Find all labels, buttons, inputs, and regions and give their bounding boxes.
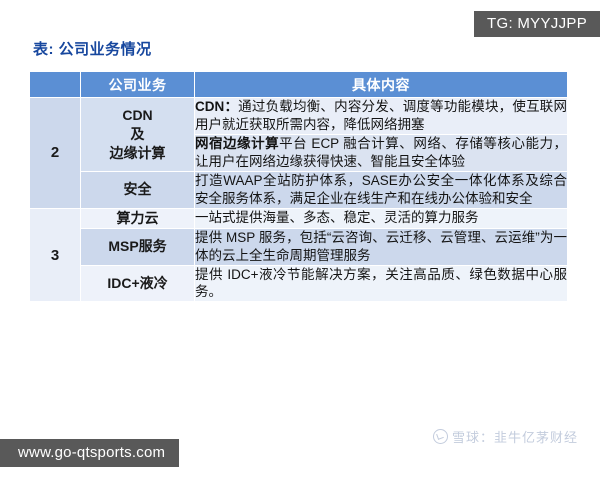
detail-text: 提供 IDC+液冷节能解决方案，关注高品质、绿色数据中心服务。 [195,267,567,300]
column-header-index [30,72,80,97]
detail-cell-idc-liquid-cooling: 提供 IDC+液冷节能解决方案，关注高品质、绿色数据中心服务。 [195,266,567,302]
table-row: 3 算力云 一站式提供海量、多态、稳定、灵活的算力服务 [30,209,567,228]
column-header-business: 公司业务 [81,72,194,97]
column-header-detail: 具体内容 [195,72,567,97]
site-url-bar: www.go-qtsports.com [0,439,179,467]
business-name-cdn-edge: CDN 及 边缘计算 [81,98,194,171]
detail-text: 打造WAAP全站防护体系，SASE办公安全一体化体系及综合安全服务体系，满足企业… [195,173,567,206]
business-name-line: 及 [81,125,194,144]
telegram-channel-badge: TG: MYYJJPP [474,11,600,37]
table-row: MSP服务 提供 MSP 服务，包括“云咨询、云迁移、云管理、云运维”为一体的云… [30,229,567,265]
watermark-text: 雪球：韭牛亿茅财经 [452,427,578,446]
table-row: 2 CDN 及 边缘计算 CDN：通过负载均衡、内容分发、调度等功能模块，使互联… [30,98,567,134]
table-row: IDC+液冷 提供 IDC+液冷节能解决方案，关注高品质、绿色数据中心服务。 [30,266,567,302]
source-watermark: 雪球：韭牛亿茅财经 [433,427,578,446]
business-name-compute-cloud: 算力云 [81,209,194,228]
figure-title: 表: 公司业务情况 [33,38,152,59]
detail-cell-compute-cloud: 一站式提供海量、多态、稳定、灵活的算力服务 [195,209,567,228]
business-name-security: 安全 [81,172,194,208]
business-name-line: 边缘计算 [81,144,194,163]
detail-cell-cdn: CDN：通过负载均衡、内容分发、调度等功能模块，使互联网用户就近获取所需内容，降… [195,98,567,134]
detail-cell-msp: 提供 MSP 服务，包括“云咨询、云迁移、云管理、云运维”为一体的云上全生命周期… [195,229,567,265]
detail-lead-label: 网宿边缘计算 [195,136,279,151]
xueqiu-logo-icon [433,429,448,444]
group-number-2: 2 [30,98,80,208]
business-table: 公司业务 具体内容 2 CDN 及 边缘计算 CDN：通过负载均衡、内容分发、调… [29,71,568,302]
detail-text: 提供 MSP 服务，包括“云咨询、云迁移、云管理、云运维”为一体的云上全生命周期… [195,230,567,263]
table-row: 安全 打造WAAP全站防护体系，SASE办公安全一体化体系及综合安全服务体系，满… [30,172,567,208]
detail-text: 通过负载均衡、内容分发、调度等功能模块，使互联网用户就近获取所需内容，降低网络拥… [195,99,567,132]
detail-cell-security: 打造WAAP全站防护体系，SASE办公安全一体化体系及综合安全服务体系，满足企业… [195,172,567,208]
detail-cell-ecp: 网宿边缘计算平台 ECP 融合计算、网络、存储等核心能力，让用户在网络边缘获得快… [195,135,567,171]
business-name-msp: MSP服务 [81,229,194,265]
business-table-container: 公司业务 具体内容 2 CDN 及 边缘计算 CDN：通过负载均衡、内容分发、调… [27,69,564,304]
business-name-idc-liquid-cooling: IDC+液冷 [81,266,194,302]
detail-lead-label: CDN： [195,99,238,114]
detail-text: 一站式提供海量、多态、稳定、灵活的算力服务 [195,210,479,225]
table-header-row: 公司业务 具体内容 [30,72,567,97]
group-number-3: 3 [30,209,80,302]
business-name-line: CDN [81,106,194,125]
